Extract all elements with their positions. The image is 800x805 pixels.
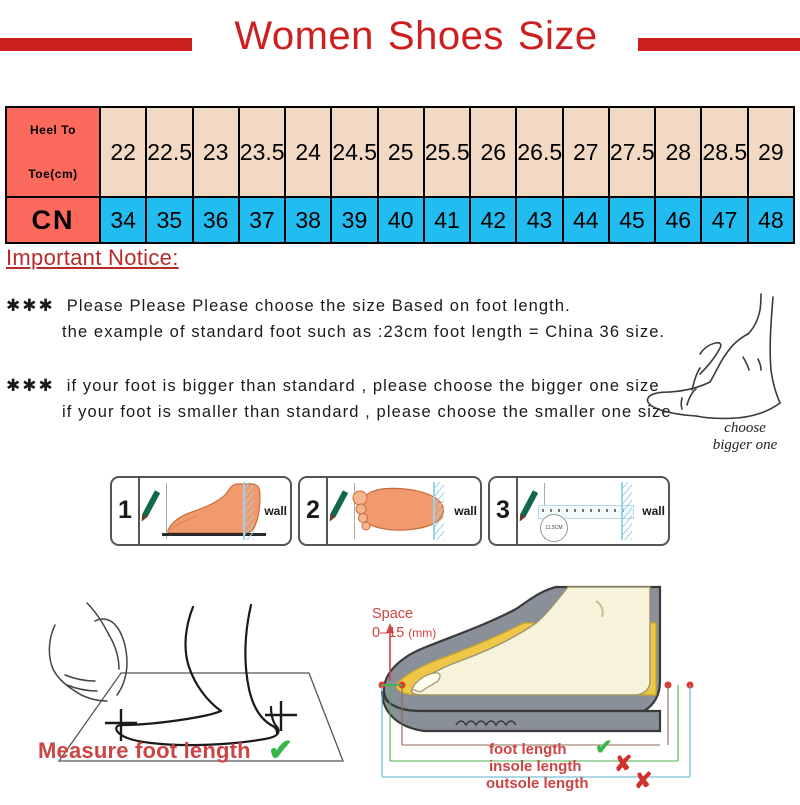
shoe-size-table: Heel To Toe(cm) 22 22.5 23 23.5 24 24.5 … [5,106,795,244]
title-word-3: Size [518,14,598,58]
space-label: Space 0–15 (mm) [372,605,436,643]
row-header-cn: CN [6,197,100,243]
caption-line-2: bigger one [690,437,800,454]
cn-cell: 43 [516,197,562,243]
cm-cell: 28 [655,107,701,197]
row-header-heel-to-toe: Heel To Toe(cm) [6,107,100,197]
header-rule-right [638,38,800,51]
outsole-length-label: outsole length [486,775,589,792]
cn-cell: 34 [100,197,146,243]
title-word-1: Women [234,14,374,58]
cm-cell: 25.5 [424,107,470,197]
cm-cell: 27.5 [609,107,655,197]
cn-cell: 44 [563,197,609,243]
step-number: 3 [490,478,518,544]
cn-cell: 40 [378,197,424,243]
step-panel-1: 1 wall [110,476,292,546]
insole-length-label: insole length [489,758,582,775]
wall-hatch-icon [433,482,444,540]
cm-cell: 29 [748,107,794,197]
wall-label: wall [642,504,665,518]
cm-cell: 26.5 [516,107,562,197]
table-row-cn: CN 34 35 36 37 38 39 40 41 42 43 44 45 4… [6,197,794,243]
step-1-illustration: wall [140,478,290,544]
choose-bigger-one-caption: choose bigger one [690,420,800,454]
step-number: 2 [300,478,328,544]
space-label-line-2: 0–15 (mm) [372,624,436,643]
cm-cell: 22 [100,107,146,197]
title-word-2: Shoes [388,14,504,58]
step-panel-3: 3 11.5CM wall [488,476,670,546]
cn-cell: 37 [239,197,285,243]
foot-length-label: foot length [489,741,566,758]
cm-cell: 22.5 [146,107,192,197]
ruler-reading-bubble: 11.5CM [540,514,568,542]
caption-line-1: choose [690,420,800,437]
cm-cell: 27 [563,107,609,197]
cm-cell: 25 [378,107,424,197]
page-header: WomenShoesSize [0,0,800,92]
cn-cell: 47 [701,197,747,243]
asterisk-icon: ✱✱✱ [6,296,55,315]
cm-cell: 26 [470,107,516,197]
cm-cell: 23 [193,107,239,197]
space-value: 0–15 [372,625,404,641]
step-3-illustration: 11.5CM wall [518,478,668,544]
step-panel-2: 2 wall [298,476,482,546]
cn-cell: 41 [424,197,470,243]
notice-text: Please Please Please choose the size Bas… [67,297,571,315]
cn-cell: 48 [748,197,794,243]
cn-cell: 39 [331,197,377,243]
check-icon: ✔ [268,733,293,768]
measure-steps-panel: 1 wall 2 wall [110,476,670,546]
measure-foot-length-label: Measure foot length [38,738,251,764]
page-title: WomenShoesSize [196,14,636,59]
cm-cell: 28.5 [701,107,747,197]
wall-label: wall [264,504,287,518]
cm-cell: 23.5 [239,107,285,197]
cn-cell: 36 [193,197,239,243]
cm-cell: 24.5 [331,107,377,197]
cn-cell: 45 [609,197,655,243]
notice-text: if your foot is bigger than standard , p… [67,377,660,395]
cn-cell: 35 [146,197,192,243]
step-number: 1 [112,478,140,544]
cn-cell: 42 [470,197,516,243]
asterisk-icon: ✱✱✱ [6,376,55,395]
step-2-illustration: wall [328,478,480,544]
wall-hatch-icon [621,482,632,540]
space-unit: (mm) [408,626,436,640]
cm-cell: 24 [285,107,331,197]
pencil-icon [520,490,538,518]
cn-cell: 38 [285,197,331,243]
cn-cell: 46 [655,197,701,243]
space-label-line-1: Space [372,605,436,624]
cross-icon: ✘ [634,768,652,794]
cross-icon: ✘ [614,751,632,777]
header-rule-left [0,38,192,51]
check-icon: ✔ [595,735,613,760]
table-row-heel-to-toe: Heel To Toe(cm) 22 22.5 23 23.5 24 24.5 … [6,107,794,197]
wall-hatch-icon [243,482,254,540]
wall-label: wall [454,504,477,518]
